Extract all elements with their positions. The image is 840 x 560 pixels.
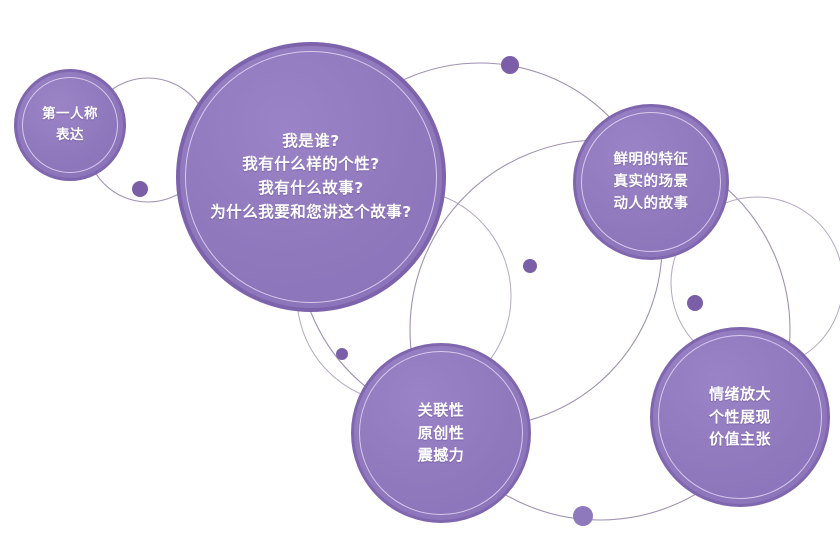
traits-node[interactable]: 鲜明的特征 真实的场景 动人的故事 (573, 104, 729, 260)
core-questions-node-label: 我是谁? 我有什么样的个性? 我有什么故事? 为什么我要和您讲这个故事? (204, 130, 418, 224)
qualities-node-label: 关联性 原创性 震撼力 (412, 399, 471, 467)
expression-node[interactable]: 情绪放大 个性展现 价值主张 (650, 327, 830, 507)
junction-dot-traits-expression (687, 295, 703, 311)
first-person-node-label: 第一人称 表达 (36, 104, 104, 145)
expression-node-label: 情绪放大 个性展现 价值主张 (703, 383, 777, 451)
qualities-node[interactable]: 关联性 原创性 震撼力 (351, 343, 531, 523)
junction-dot-core-qualities (336, 348, 348, 360)
traits-node-label: 鲜明的特征 真实的场景 动人的故事 (608, 149, 695, 215)
first-person-node[interactable]: 第一人称 表达 (14, 69, 126, 181)
junction-dot-qualities-expression (573, 506, 593, 526)
junction-dot-first-person-core (132, 181, 148, 197)
junction-dot-core-traits (501, 56, 519, 74)
diagram-canvas: 第一人称 表达 我是谁? 我有什么样的个性? 我有什么故事? 为什么我要和您讲这… (0, 0, 840, 560)
core-questions-node[interactable]: 我是谁? 我有什么样的个性? 我有什么故事? 为什么我要和您讲这个故事? (176, 42, 446, 312)
junction-dot-traits-qualities (523, 259, 537, 273)
